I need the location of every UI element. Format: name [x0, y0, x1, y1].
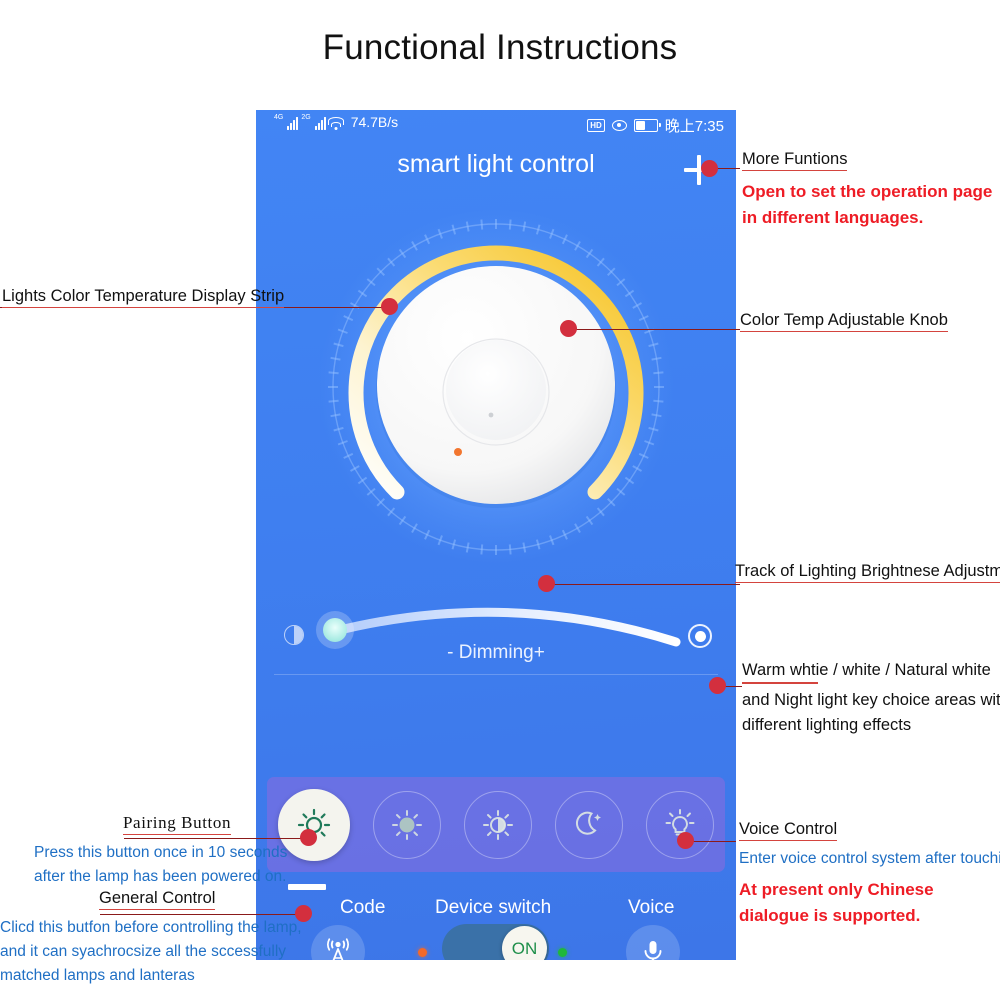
phone-screenshot: 4G 2G 74.7B/s HD 晚上7:35 smart light cont…: [256, 110, 736, 960]
sun-half-icon: [481, 808, 515, 842]
annotation-underline: [742, 682, 818, 684]
code-label: Code: [340, 897, 385, 919]
annotation-line: and Night light key choice areas with: [742, 688, 1000, 713]
callout-line-color-temp-knob: [572, 329, 740, 330]
callout-line-voice-control: [688, 841, 736, 842]
annotation-more-functions: More Funtions Open to set the operation …: [742, 150, 992, 231]
callout-dot-mode-keys: [709, 677, 726, 694]
dimming-label: - Dimming+: [256, 642, 736, 664]
callout-line-brightness-track: [550, 584, 740, 585]
annotation-heading: Voice Control: [739, 820, 837, 841]
mode-natural-white[interactable]: [464, 791, 532, 859]
annotation-heading: Color Temp Adjustable Knob: [740, 311, 948, 332]
device-switch-toggle[interactable]: ON: [442, 924, 549, 960]
annotation-line: in different languages.: [742, 205, 992, 231]
annotation-mode-keys: Warm whtie / white / Natural white and N…: [742, 661, 1000, 738]
network-type-1: 4G: [274, 114, 283, 121]
brightness-track: [332, 612, 676, 642]
network-speed: 74.7B/s: [351, 114, 398, 130]
voice-label: Voice: [628, 897, 674, 919]
device-switch-state: ON: [502, 926, 547, 960]
annotation-voice-control: Voice Control Enter voice control system…: [739, 820, 1000, 929]
annotation-heading: Lights Color Temperature Display Strip: [2, 287, 284, 308]
lighting-mode-bar: [267, 777, 725, 872]
annotation-pairing-button: Pairing Button Press this button once in…: [123, 813, 287, 889]
annotation-line: Warm whtie / white / Natural white: [742, 661, 991, 681]
status-bar: 4G 2G 74.7B/s HD 晚上7:35: [256, 110, 736, 142]
callout-dot-color-temp-knob: [560, 320, 577, 337]
annotation-heading: Pairing Button: [123, 813, 231, 835]
annotation-line: dialogue is supported.: [739, 903, 1000, 929]
callout-dot-display-strip: [381, 298, 398, 315]
annotation-line: after the lamp has been powered on.: [34, 865, 287, 889]
network-type-2: 2G: [301, 114, 310, 121]
annotation-line: matched lamps and lanteras: [0, 964, 302, 988]
page-title: Functional Instructions: [0, 28, 1000, 68]
voice-button[interactable]: [626, 925, 680, 960]
pairing-button[interactable]: [311, 925, 365, 960]
brightness-handle: [323, 618, 347, 642]
color-temperature-knob[interactable]: [311, 202, 681, 572]
callout-dot-brightness-track: [538, 575, 555, 592]
mode-night-light[interactable]: [555, 791, 623, 859]
annotation-line: Press this button once in 10 seconds: [34, 841, 287, 865]
callout-dot-more-functions: [701, 160, 718, 177]
annotation-color-temp-knob: Color Temp Adjustable Knob: [740, 311, 948, 332]
annotation-line: different lighting effects: [742, 713, 1000, 738]
wifi-icon: [329, 118, 344, 130]
status-right: HD 晚上7:35: [587, 115, 724, 136]
status-clock: 晚上7:35: [665, 115, 724, 136]
annotation-general-control: General Control Clicd this butfon before…: [99, 889, 302, 988]
battery-icon: [634, 119, 658, 132]
annotation-line: At present only Chinese: [739, 877, 1000, 903]
signal-bars-icon-2: [315, 116, 326, 130]
callout-dot-pairing-button: [300, 829, 317, 846]
annotation-line: Open to set the operation page: [742, 179, 992, 205]
annotation-line: Clicd this butfon before controlling the…: [0, 916, 302, 940]
annotation-heading: Track of Lighting Brightnese Adjustment: [735, 562, 1000, 583]
hd-badge: HD: [587, 119, 605, 132]
annotation-heading: More Funtions: [742, 150, 847, 171]
eye-comfort-icon: [612, 120, 627, 131]
sun-filled-icon: [390, 808, 424, 842]
control-row: Code Device switch Voice ON: [256, 895, 736, 960]
signal-bars-icon-1: [287, 116, 298, 130]
annotation-line: Enter voice control system after touchin…: [739, 847, 1000, 871]
brightness-slider[interactable]: - Dimming+: [256, 580, 736, 680]
status-left: 4G 2G 74.7B/s: [274, 114, 398, 130]
mode-warm-white[interactable]: [278, 789, 350, 861]
mode-white[interactable]: [373, 791, 441, 859]
mode-bulb[interactable]: [646, 791, 714, 859]
annotation-heading: General Control: [99, 889, 215, 910]
app-title: smart light control: [256, 150, 736, 179]
divider: [274, 674, 718, 675]
led-indicator-on: [558, 948, 567, 957]
moon-star-icon: [572, 808, 606, 842]
callout-dot-voice-control: [677, 832, 694, 849]
device-switch-label: Device switch: [435, 897, 551, 919]
annotation-line: and it can syachrocsize all the sccessfu…: [0, 940, 302, 964]
pairing-antenna-icon: [322, 936, 354, 960]
annotation-display-strip: Lights Color Temperature Display Strip: [2, 287, 284, 308]
annotation-brightness-track: Track of Lighting Brightnese Adjustment: [735, 562, 1000, 583]
microphone-icon: [638, 937, 668, 960]
led-indicator-off: [418, 948, 427, 957]
